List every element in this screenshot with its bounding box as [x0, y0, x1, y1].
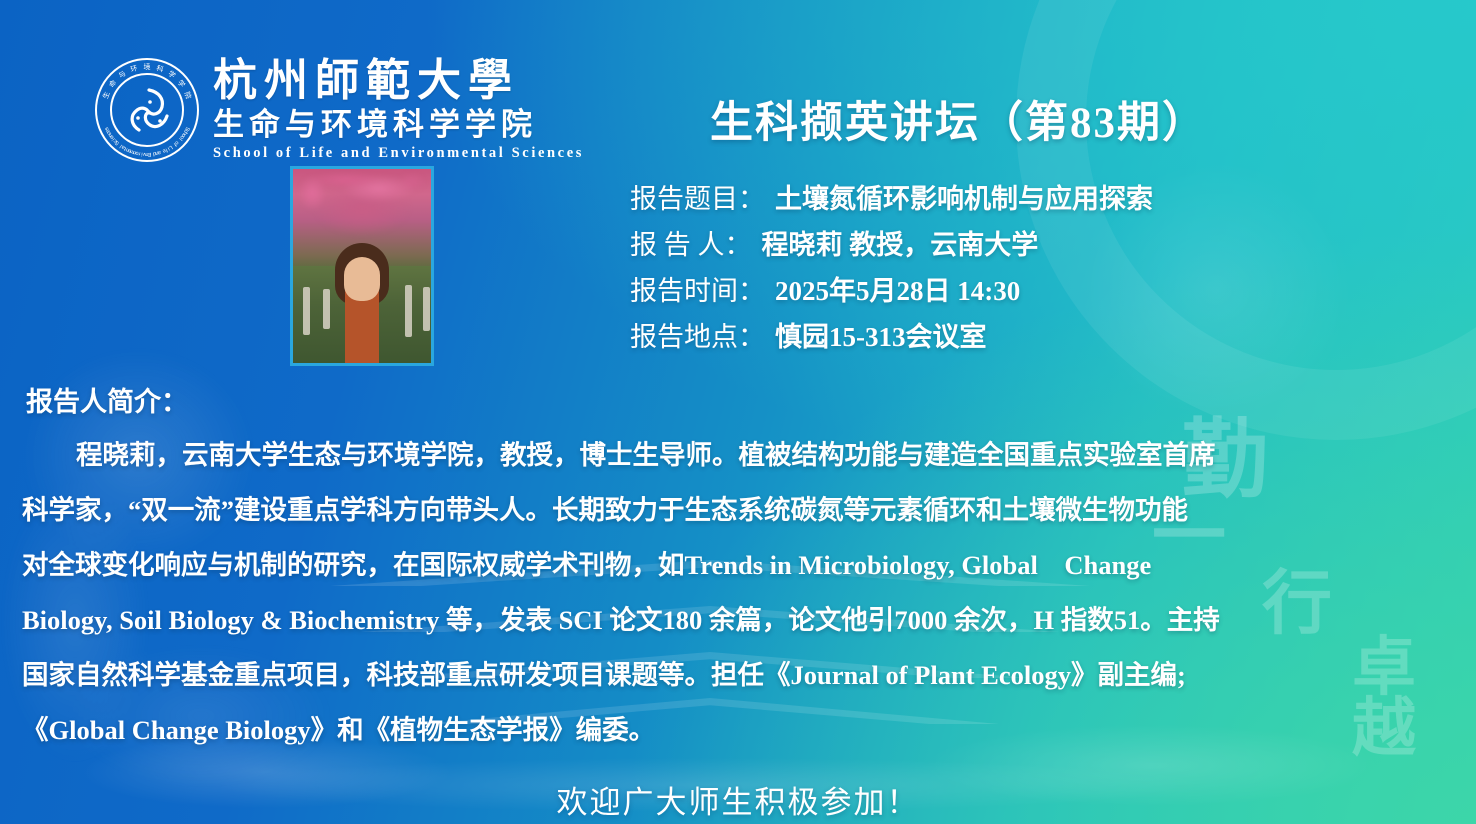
seminar-poster: 勤 一 行 卓越 生命与环境科学学院School of Life and Env…: [0, 0, 1476, 824]
info-row-topic: 报告题目： 土壤氮循环影响机制与应用探索: [630, 186, 1430, 213]
info-label-venue: 报告地点：: [630, 324, 765, 351]
info-value-topic: 土壤氮循环影响机制与应用探索: [775, 186, 1153, 213]
info-row-venue: 报告地点： 慎园15-313会议室: [630, 324, 1430, 351]
university-logo-block: 生命与环境科学学院School of Life and Environmenta…: [95, 58, 584, 162]
speaker-photo: [290, 166, 434, 366]
info-row-speaker: 报 告 人： 程晓莉 教授，云南大学: [630, 232, 1430, 259]
info-value-speaker: 程晓莉 教授，云南大学: [762, 232, 1039, 259]
info-label-topic: 报告题目：: [630, 186, 765, 213]
bio-body: 程晓莉，云南大学生态与环境学院，教授，博士生导师。植被结构功能与建造全国重点实验…: [22, 428, 1454, 758]
bio-line: 科学家，“双一流”建设重点学科方向带头人。长期致力于生态系统碳氮等元素循环和土壤…: [22, 483, 1454, 538]
bio-heading: 报告人简介：: [26, 380, 188, 419]
info-value-time: 2025年5月28日 14:30: [775, 278, 1020, 305]
school-name-en: School of Life and Environmental Science…: [213, 146, 584, 161]
page-title: 生科撷英讲坛（第83期）: [710, 88, 1207, 150]
three-fish-circle-icon: 生命与环境科学学院School of Life and Environmenta…: [95, 58, 199, 162]
bio-line: 程晓莉，云南大学生态与环境学院，教授，博士生导师。植被结构功能与建造全国重点实验…: [22, 428, 1454, 483]
info-value-venue: 慎园15-313会议室: [775, 324, 987, 351]
footer-note: 欢迎广大师生积极参加！: [0, 777, 1476, 822]
school-name-cn: 生命与环境科学学院: [213, 109, 584, 140]
bio-line: 对全球变化响应与机制的研究，在国际权威学术刊物，如Trends in Micro…: [22, 538, 1454, 593]
info-label-time: 报告时间：: [630, 278, 765, 305]
university-name-cn: 杭州師範大學: [213, 59, 584, 103]
bio-line: Biology, Soil Biology & Biochemistry 等，发…: [22, 593, 1454, 648]
bio-line: 《Global Change Biology》和《植物生态学报》编委。: [22, 703, 1454, 758]
bio-line: 国家自然科学基金重点项目，科技部重点研发项目课题等。担任《Journal of …: [22, 648, 1454, 703]
info-row-time: 报告时间： 2025年5月28日 14:30: [630, 278, 1430, 305]
talk-info-block: 报告题目： 土壤氮循环影响机制与应用探索 报 告 人： 程晓莉 教授，云南大学 …: [630, 186, 1430, 370]
info-label-speaker: 报 告 人：: [630, 232, 752, 259]
